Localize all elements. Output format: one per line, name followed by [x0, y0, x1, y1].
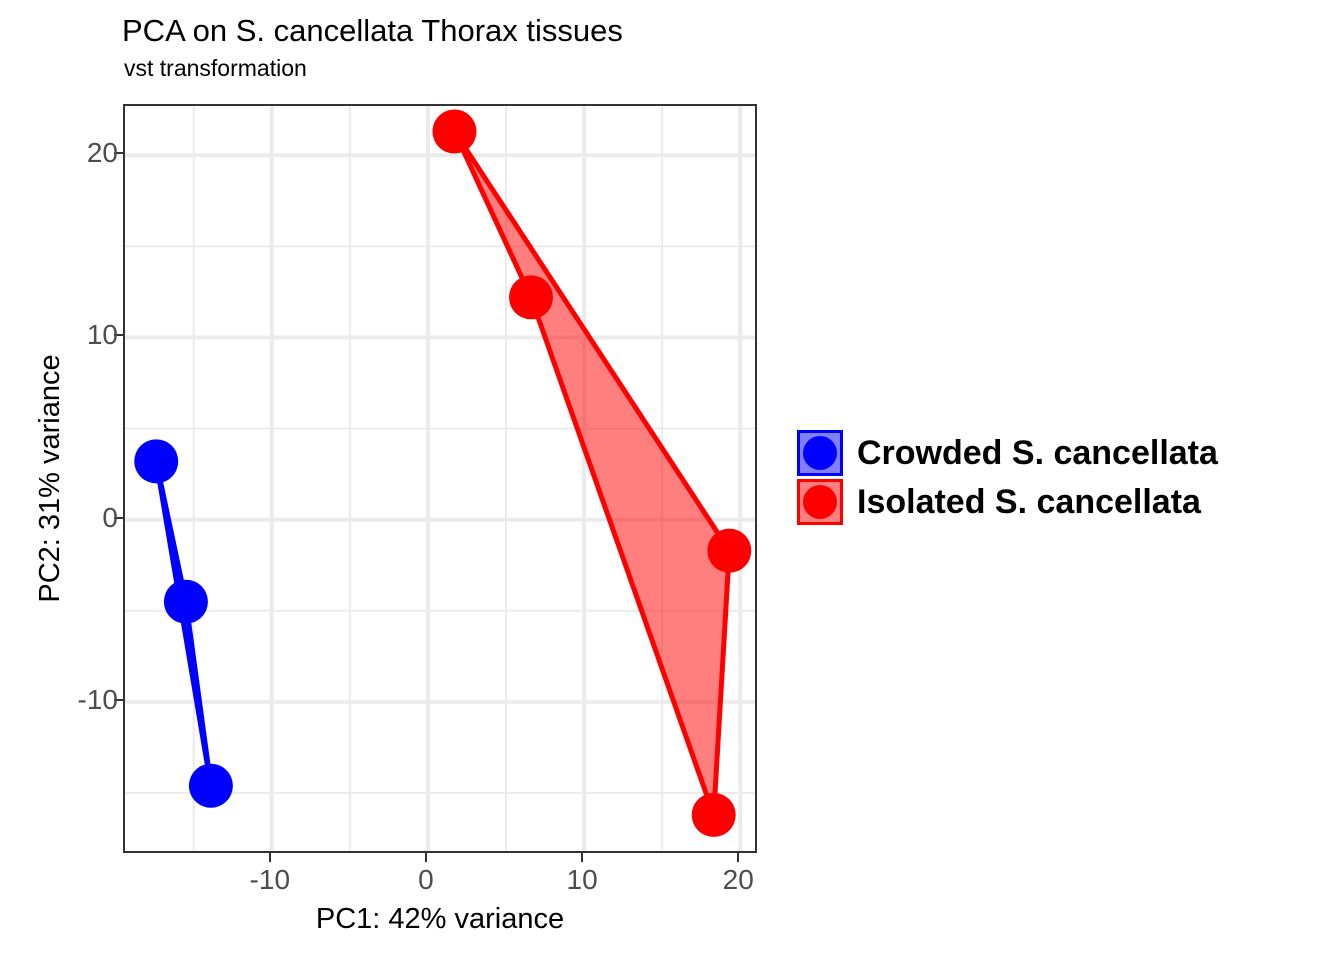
data-point[interactable]	[707, 529, 751, 573]
data-point[interactable]	[164, 580, 208, 624]
data-point[interactable]	[692, 793, 736, 837]
x-tick-label: -10	[250, 864, 290, 896]
page-title: PCA on S. cancellata Thorax tissues	[122, 14, 623, 48]
chart-canvas: PCA on S. cancellata Thorax tissues vst …	[0, 0, 1344, 960]
data-point[interactable]	[134, 439, 178, 483]
series-hull-1	[454, 132, 729, 815]
legend-key-dot-icon	[803, 485, 837, 519]
chart-subtitle: vst transformation	[124, 55, 307, 81]
legend: Crowded S. cancellataIsolated S. cancell…	[797, 428, 1218, 526]
x-axis-title: PC1: 42% variance	[123, 903, 757, 936]
legend-key-dot-icon	[803, 436, 837, 470]
x-tick-label: 10	[567, 864, 598, 896]
plot-svg	[125, 106, 757, 853]
y-tick-label: 10	[87, 319, 118, 351]
y-tick-label: 0	[102, 502, 118, 534]
hull-polygon	[454, 132, 729, 815]
x-tick-mark	[581, 853, 583, 862]
y-tick-label: -10	[78, 684, 118, 716]
plot-panel	[123, 104, 757, 853]
legend-item-label: Isolated S. cancellata	[857, 483, 1201, 521]
data-point[interactable]	[432, 110, 476, 154]
x-tick-label: 20	[723, 864, 754, 896]
x-tick-mark	[269, 853, 271, 862]
data-point[interactable]	[509, 275, 553, 319]
legend-item[interactable]: Crowded S. cancellata	[797, 428, 1218, 477]
legend-key-swatch	[797, 430, 843, 476]
legend-item[interactable]: Isolated S. cancellata	[797, 477, 1218, 526]
plot-panel-wrap	[123, 104, 757, 853]
x-tick-label: 0	[418, 864, 434, 896]
legend-item-label: Crowded S. cancellata	[857, 434, 1218, 472]
x-tick-mark	[425, 853, 427, 862]
data-point[interactable]	[189, 764, 233, 808]
y-axis-title: PC2: 31% variance	[34, 104, 68, 853]
y-tick-label: 20	[87, 137, 118, 169]
legend-key-swatch	[797, 479, 843, 525]
series-points-0	[134, 439, 233, 807]
x-tick-mark	[737, 853, 739, 862]
